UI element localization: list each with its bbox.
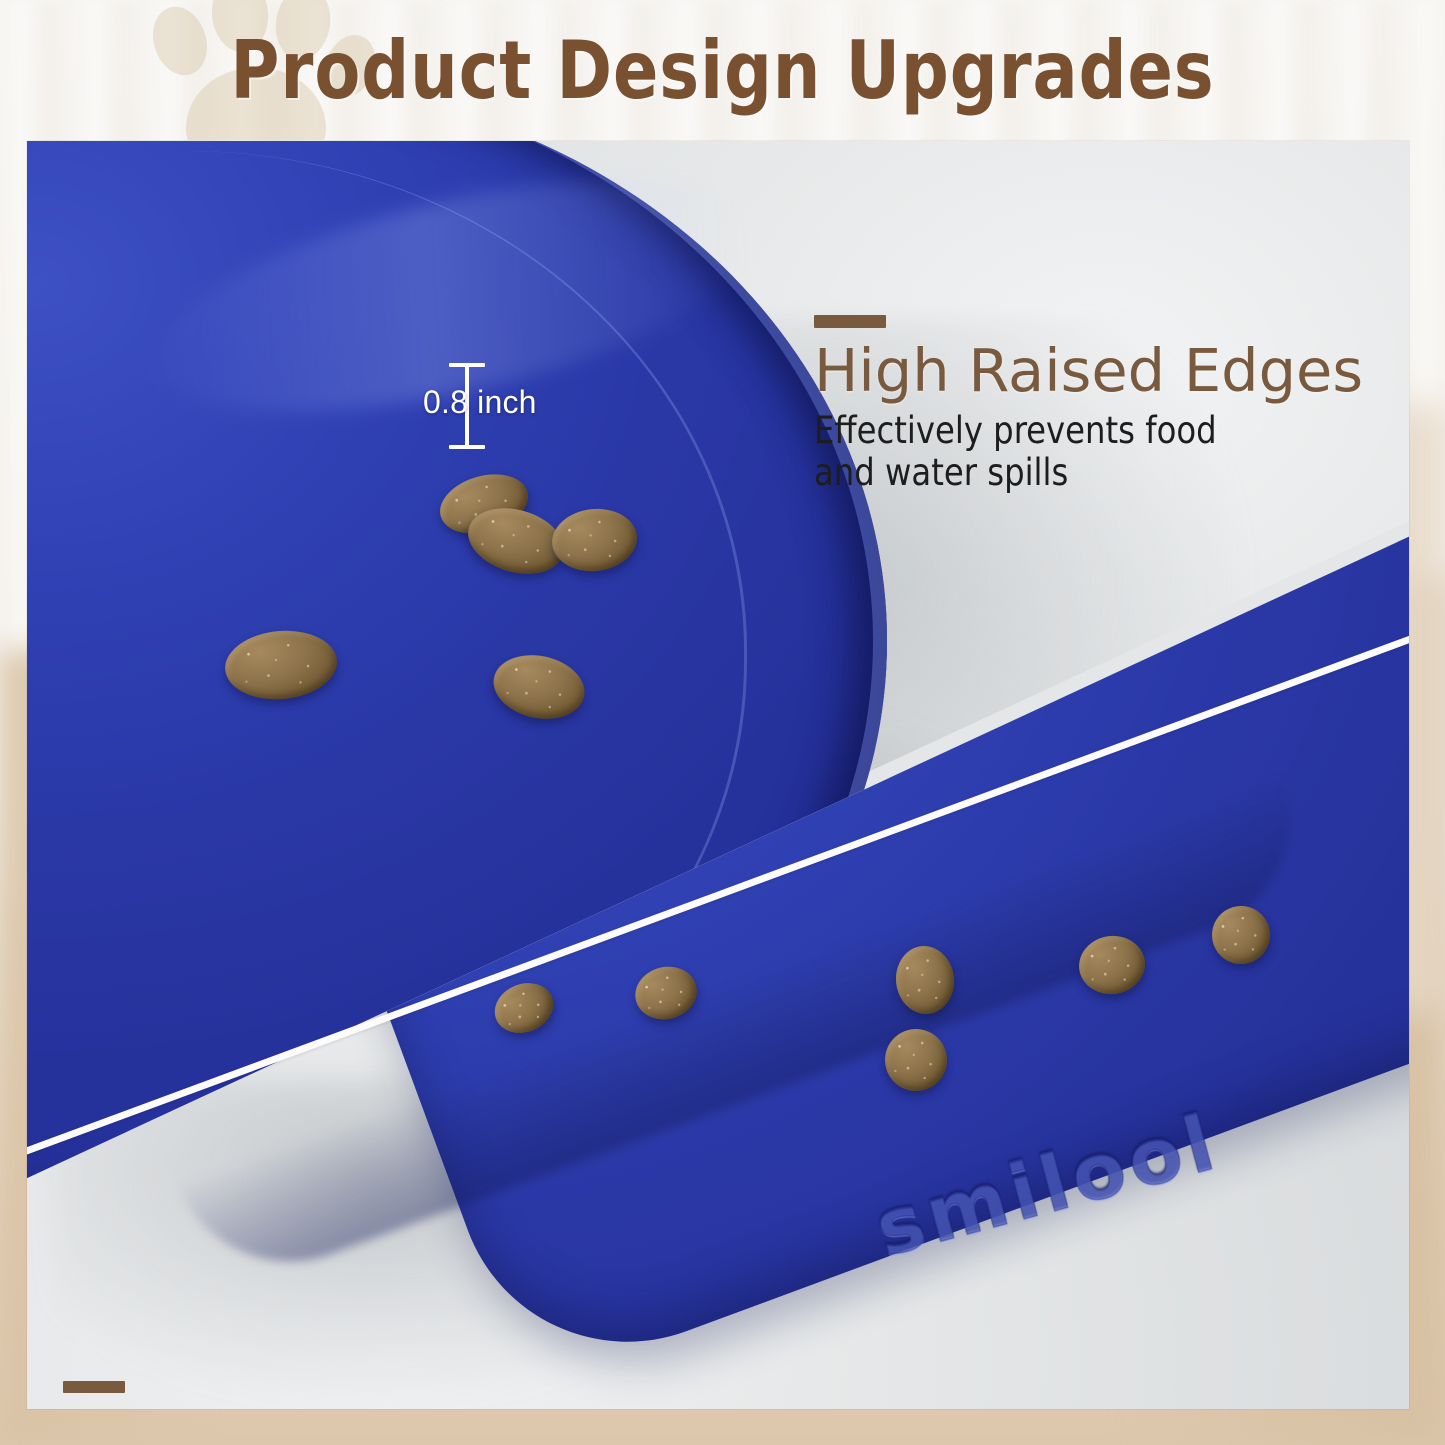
header-band: Product Design Upgrades [0,0,1445,140]
callout-high-raised-edges: High Raised Edges Effectively prevents f… [814,315,1409,494]
callout-body-line-1: Effectively prevents food [814,410,1396,452]
callout-keeping-floor-clean: Keeping the floor clean Minimizes time s… [63,1381,1203,1409]
product-infographic: Product Design Upgrades 0.8 inch [0,0,1445,1445]
accent-dash-icon [63,1381,125,1393]
callout-heading: Keeping the floor clean [63,1403,1203,1409]
dimension-cap-bottom-icon [449,445,485,449]
callout-heading: High Raised Edges [814,340,1409,402]
photo-collage: 0.8 inch smilool High [27,141,1409,1409]
dimension-label: 0.8 inch [423,385,603,419]
page-title: Product Design Upgrades [51,0,1395,140]
callout-heading-part-2: clean [613,1399,780,1409]
accent-dash-icon [814,315,886,328]
callout-heading-part-1: Keeping the floor [63,1399,613,1409]
dimension-annotation: 0.8 inch [419,341,599,469]
callout-body-line-2: and water spills [814,452,1396,494]
